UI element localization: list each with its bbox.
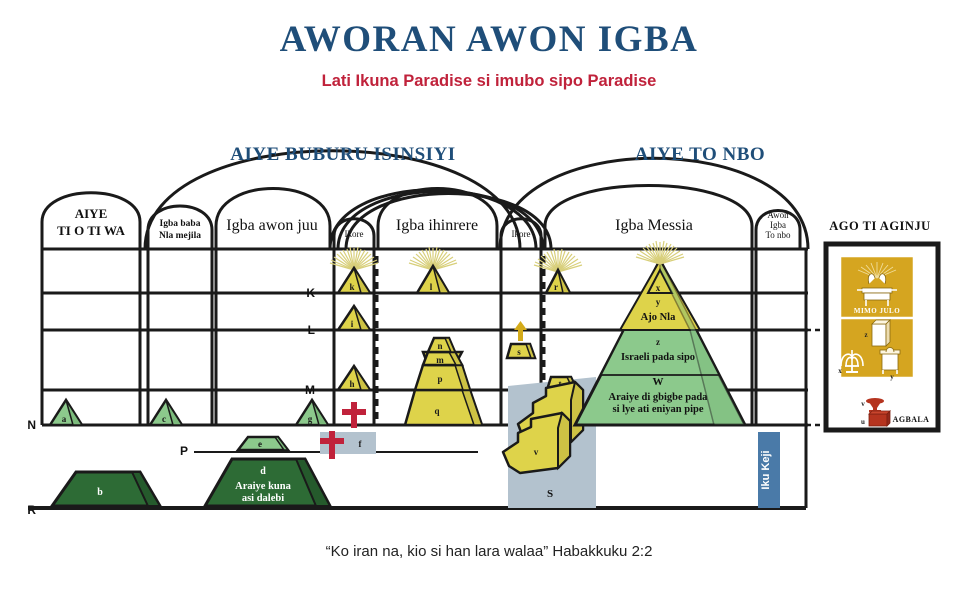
- pyramid-W-text-1: si lye ati eniyan pipe: [612, 404, 703, 415]
- row-label-N: N: [27, 418, 36, 432]
- arch-label-3: Ikore: [345, 229, 364, 239]
- iku-keji-label: Iku Keji: [760, 450, 772, 489]
- shape-s: s: [507, 344, 535, 358]
- showbread-table-icon: [880, 348, 900, 375]
- shape-g-label: g: [308, 414, 313, 424]
- tabernacle-most-holy-label: MIMO JULO: [854, 307, 900, 315]
- shape-d-text-1: asi dalebi: [242, 493, 284, 504]
- shape-a: a: [50, 400, 82, 425]
- shape-m: m: [423, 352, 462, 365]
- shape-k-label: k: [349, 282, 354, 292]
- shape-v-label: v: [534, 447, 539, 457]
- tabernacle-title: AGO TI AGINJU: [829, 219, 930, 233]
- arch-label-1-line0: Igba baba: [160, 219, 201, 229]
- pyramid-W-text-0: Araiye di gbigbe pada: [609, 392, 709, 403]
- arch-label-1-line1: Nla mejila: [159, 231, 201, 241]
- arch-label-4: Igba ihinrere: [396, 217, 478, 234]
- shape-b-label: b: [97, 487, 103, 498]
- shape-r-label: r: [554, 282, 558, 292]
- tabernacle-item-v-key: v: [861, 400, 865, 408]
- shape-b: b: [52, 472, 160, 506]
- shape-h-label: h: [349, 379, 354, 389]
- row-label-P: P: [180, 444, 188, 458]
- shape-c-label: c: [162, 414, 166, 424]
- shape-e: e: [238, 437, 288, 450]
- pyramid-y-text: Ajo Nla: [641, 312, 676, 323]
- tabernacle-diagram: AGO TI AGINJU MI: [826, 219, 938, 430]
- shape-m-label: m: [436, 355, 444, 365]
- tabernacle-item-z-key: z: [864, 331, 867, 339]
- shape-d: d Araiye kuna asi dalebi: [205, 459, 330, 506]
- pyramid-z-text: Israeli pada sipo: [621, 352, 695, 363]
- row-label-M: M: [305, 383, 315, 397]
- arch-label-7-line0: Awon: [767, 210, 789, 220]
- era-arcs: [145, 151, 808, 249]
- pyramid-y-label: y: [656, 297, 661, 307]
- shape-p-label: p: [437, 374, 442, 384]
- shape-n: n: [428, 338, 455, 352]
- era-label-present: AIYE BUBURU ISINSIYI: [230, 144, 455, 165]
- shape-a-label: a: [62, 414, 67, 424]
- shape-d-text-0: Araiye kuna: [235, 481, 291, 492]
- era-label-future: AIYE TO NBO: [635, 144, 765, 165]
- panel-S-label: S: [547, 488, 553, 500]
- row-label-K: K: [306, 286, 315, 300]
- pyramid-W-label: W: [653, 376, 664, 388]
- row-label-L: L: [308, 323, 315, 337]
- arch-label-7-line1: Igba: [770, 220, 786, 230]
- arch-label-0-line1: TI O TI WA: [57, 223, 125, 238]
- bottom-caption: “Ko iran na, kio si han lara walaa” Haba…: [0, 543, 978, 560]
- shape-s-label: s: [517, 347, 521, 357]
- shape-k: k: [330, 247, 378, 293]
- shape-h: h: [338, 366, 370, 390]
- burnt-altar-icon: [869, 411, 890, 426]
- pyramid-x-label: x: [656, 283, 661, 293]
- shape-g: g: [296, 400, 328, 425]
- shape-p: p: [415, 365, 470, 390]
- pyramid-z-label: z: [656, 337, 660, 347]
- arch-label-2: Igba awon juu: [226, 217, 318, 234]
- tabernacle-courtyard-label: AGBALA: [893, 415, 930, 424]
- arch-label-7-line2: To nbo: [765, 230, 791, 240]
- tabernacle-item-x-key: x: [838, 367, 842, 375]
- shape-n-label: n: [437, 341, 442, 351]
- tabernacle-item-y-key: y: [890, 373, 894, 381]
- shape-q-label: q: [434, 406, 439, 416]
- shape-i-small: i: [338, 306, 370, 330]
- iku-keji-bar: Iku Keji: [758, 432, 780, 508]
- shape-q: q: [405, 390, 482, 425]
- tabernacle-holy-label: MIMO: [865, 384, 888, 392]
- arch-label-5: Ikore: [512, 229, 531, 239]
- shape-l: l: [409, 247, 457, 293]
- arch-label-6: Igba Messia: [615, 217, 693, 234]
- shape-c: c: [150, 400, 182, 425]
- incense-altar-icon: [872, 320, 890, 346]
- chart-canvas: AIYE BUBURU ISINSIYI AIYE TO NBO AIYE TI…: [0, 0, 978, 597]
- tabernacle-item-u-key: u: [861, 418, 865, 426]
- shape-e-label: e: [258, 439, 262, 449]
- pyramid-group: x y Ajo Nla z Israeli pada sipo W Araiye…: [575, 241, 745, 425]
- arch-label-0-line0: AIYE: [75, 206, 108, 221]
- shape-d-label: d: [260, 466, 266, 477]
